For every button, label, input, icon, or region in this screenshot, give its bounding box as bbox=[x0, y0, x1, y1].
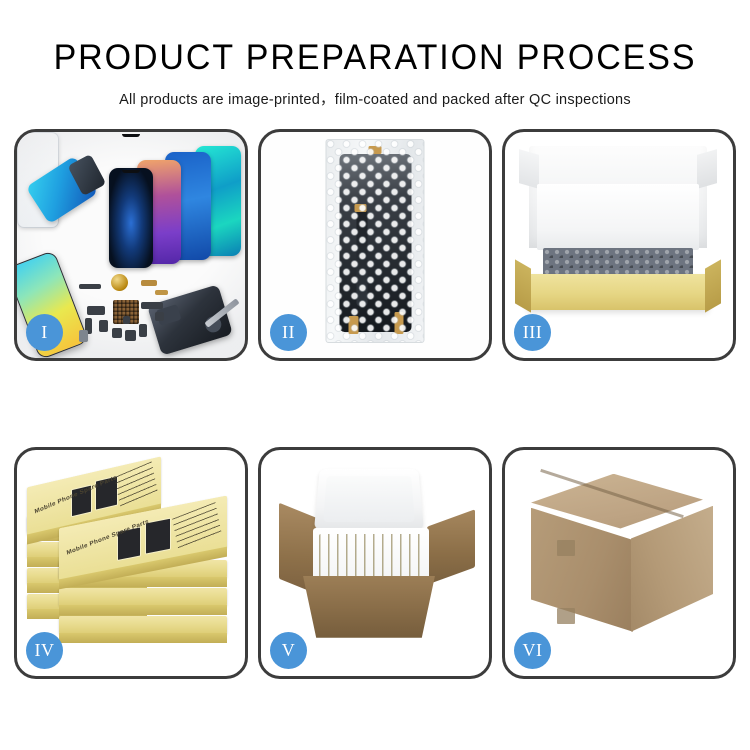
page-title: PRODUCT PREPARATION PROCESS bbox=[11, 40, 739, 77]
part-icon bbox=[141, 280, 157, 286]
part-icon bbox=[155, 312, 164, 321]
part-icon bbox=[79, 330, 88, 342]
process-step-panel-3[interactable]: III bbox=[502, 129, 736, 361]
bubble-wrap-bag-icon bbox=[326, 139, 425, 343]
part-icon bbox=[141, 302, 163, 309]
phone-notch-icon bbox=[122, 170, 140, 174]
foam-lid-icon bbox=[314, 469, 424, 530]
retail-box bbox=[59, 616, 227, 634]
step-badge-3: III bbox=[514, 314, 551, 351]
process-step-grid: I II III bbox=[0, 109, 750, 679]
part-icon bbox=[112, 328, 122, 338]
step-badge-6: VI bbox=[514, 632, 551, 669]
step-badge-2: II bbox=[270, 314, 307, 351]
part-icon bbox=[87, 306, 105, 315]
carton-right-face-icon bbox=[631, 506, 713, 632]
yellow-box-front-icon bbox=[527, 274, 709, 310]
carton-flap-right-icon bbox=[427, 509, 475, 584]
phone-screen-dark-icon bbox=[109, 168, 153, 268]
bubble-texture bbox=[327, 140, 424, 342]
retail-box-stack: Mobile Phone Spare Parts Mobile Phone Sp… bbox=[25, 464, 229, 660]
part-icon bbox=[123, 316, 130, 324]
speaker-module-icon bbox=[111, 274, 128, 291]
step-badge-5: V bbox=[270, 632, 307, 669]
page-header: PRODUCT PREPARATION PROCESS All products… bbox=[0, 0, 750, 109]
part-icon bbox=[99, 320, 108, 332]
carton-tape-icon bbox=[557, 540, 575, 556]
carton-front-icon bbox=[303, 576, 435, 638]
retail-box bbox=[59, 588, 227, 606]
process-step-panel-1[interactable]: I bbox=[14, 129, 248, 361]
step-badge-4: IV bbox=[26, 632, 63, 669]
spare-parts-cluster bbox=[79, 272, 189, 350]
page-subtitle: All products are image-printed，film-coat… bbox=[0, 88, 750, 109]
phone-notch-icon bbox=[122, 134, 140, 138]
process-step-panel-5[interactable]: V bbox=[258, 447, 492, 679]
process-step-panel-2[interactable]: II bbox=[258, 129, 492, 361]
part-icon bbox=[79, 284, 101, 289]
part-icon bbox=[155, 290, 168, 295]
process-step-panel-4[interactable]: Mobile Phone Spare Parts Mobile Phone Sp… bbox=[14, 447, 248, 679]
label-text-lines bbox=[172, 502, 222, 551]
process-step-panel-6[interactable]: VI bbox=[502, 447, 736, 679]
retail-boxes-inside-icon bbox=[319, 534, 423, 580]
part-icon bbox=[139, 324, 147, 337]
label-text-lines bbox=[114, 461, 157, 507]
foam-sheet-icon bbox=[537, 184, 699, 250]
part-icon bbox=[125, 330, 136, 341]
carton-tape-icon bbox=[557, 608, 575, 624]
step-badge-1: I bbox=[26, 314, 63, 351]
